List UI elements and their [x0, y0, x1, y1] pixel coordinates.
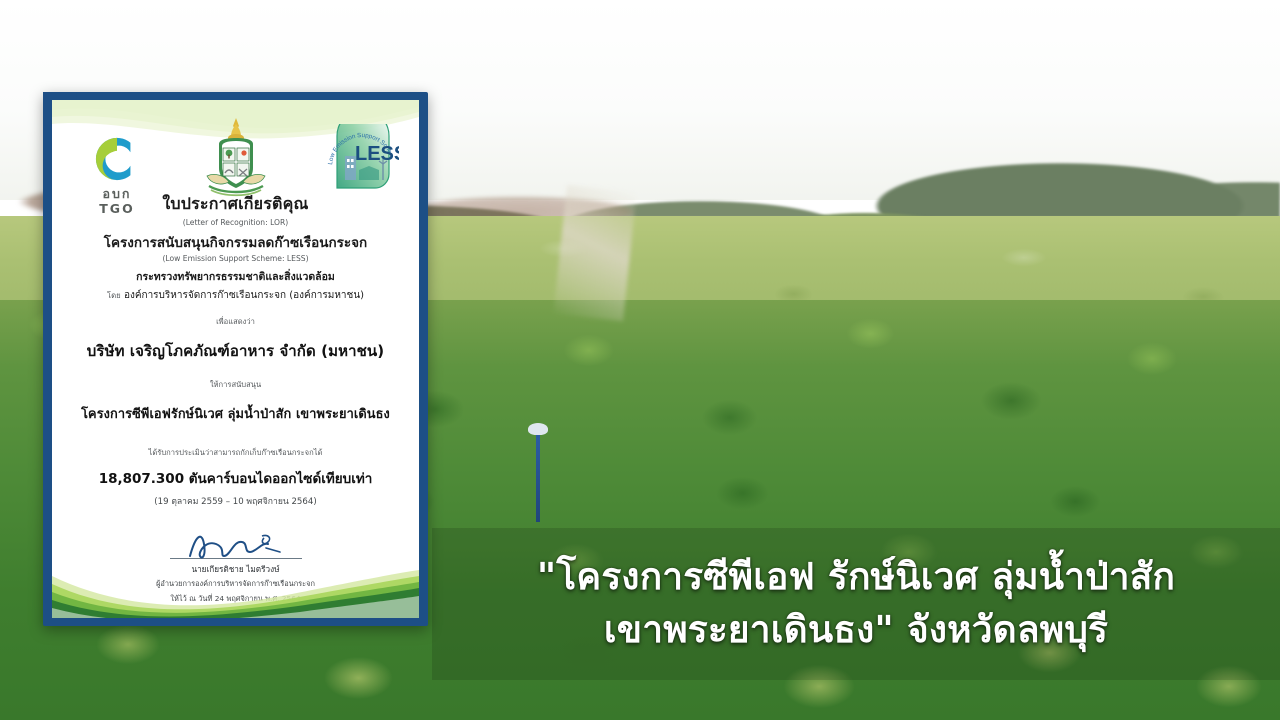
svg-text:LESS: LESS: [355, 143, 399, 165]
certificate-inner: อบก TGO: [52, 100, 419, 618]
issuing-organization: โดย องค์การบริหารจัดการก๊าซเรือนกระจก (อ…: [66, 288, 405, 303]
certificate-logos: อบก TGO: [66, 104, 405, 196]
by-prefix: โดย: [107, 291, 121, 300]
tgo-text-en: TGO: [86, 203, 148, 216]
to-certify-label: เพื่อแสดงว่า: [66, 316, 405, 328]
dirt-road: [553, 185, 636, 322]
screenshot-stage: "โครงการซีพีเอฟ รักษ์นิเวศ ลุ่มน้ำป่าสัก…: [0, 0, 1280, 720]
scheme-title-en: (Low Emission Support Scheme: LESS): [66, 254, 405, 263]
carbon-amount: 18,807.300 ตันคาร์บอนไดออกไซด์เทียบเท่า: [66, 467, 405, 489]
ministry-emblem-icon: [199, 116, 273, 200]
project-name: โครงการซีพีเอฟรักษ์นิเวศ ลุ่มน้ำป่าสัก เ…: [66, 403, 405, 424]
support-label: ให้การสนับสนุน: [66, 379, 405, 391]
certificate-content: อบก TGO: [52, 100, 419, 618]
bottom-green-wave-decoration: [52, 554, 419, 618]
recipient-organization: บริษัท เจริญโภคภัณฑ์อาหาร จำกัด (มหาชน): [66, 339, 405, 363]
less-logo-icon: Low Emission Support Scheme LESS: [325, 124, 399, 198]
tgo-c-mark: [94, 136, 140, 182]
certificate-card: อบก TGO: [43, 92, 428, 626]
tgo-logo: อบก TGO: [86, 136, 148, 216]
ministry-name: กระทรวงทรัพยากรธรรมชาติและสิ่งแวดล้อม: [66, 268, 405, 285]
lamp-head: [528, 423, 548, 435]
assessment-period: (19 ตุลาคม 2559 – 10 พฤศจิกายน 2564): [66, 494, 405, 508]
tgo-text-th: อบก: [86, 188, 148, 201]
caption-overlay-band: [432, 528, 1280, 680]
scheme-title-th: โครงการสนับสนุนกิจกรรมลดก๊าซเรือนกระจก: [66, 231, 405, 253]
by-org: องค์การบริหารจัดการก๊าซเรือนกระจก (องค์ก…: [124, 290, 364, 301]
light-pole: [536, 430, 540, 522]
certificate-title-en: (Letter of Recognition: LOR): [66, 218, 405, 227]
assessment-label: ได้รับการประเมินว่าสามารถกักเก็บก๊าซเรือ…: [66, 447, 405, 459]
